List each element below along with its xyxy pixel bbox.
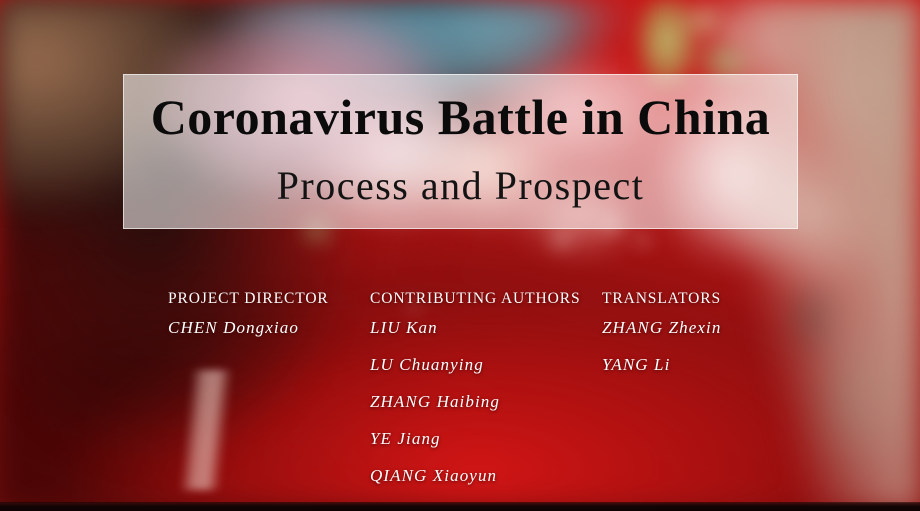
poster-root: Coronavirus Battle in China Process and … [0,0,920,511]
credit-name: CHEN Dongxiao [168,318,329,338]
credit-name: ZHANG Haibing [370,392,580,412]
credit-name: YE Jiang [370,429,580,449]
bottom-dark-bar [0,502,920,511]
credit-column-contributing-authors: CONTRIBUTING AUTHORS LIU Kan LU Chuanyin… [370,290,580,486]
credit-name: LIU Kan [370,318,580,338]
page-title: Coronavirus Battle in China [124,91,797,144]
page-subtitle: Process and Prospect [124,165,797,207]
title-overlay-panel: Coronavirus Battle in China Process and … [123,74,798,229]
credit-heading-contributing-authors: CONTRIBUTING AUTHORS [370,290,580,308]
credit-name: ZHANG Zhexin [602,318,721,338]
credit-column-project-director: PROJECT DIRECTOR CHEN Dongxiao [168,290,329,338]
credit-column-translators: TRANSLATORS ZHANG Zhexin YANG Li [602,290,721,375]
credit-name: YANG Li [602,355,721,375]
credit-heading-translators: TRANSLATORS [602,290,721,308]
credit-name: LU Chuanying [370,355,580,375]
credit-heading-project-director: PROJECT DIRECTOR [168,290,329,308]
credit-name: QIANG Xiaoyun [370,466,580,486]
